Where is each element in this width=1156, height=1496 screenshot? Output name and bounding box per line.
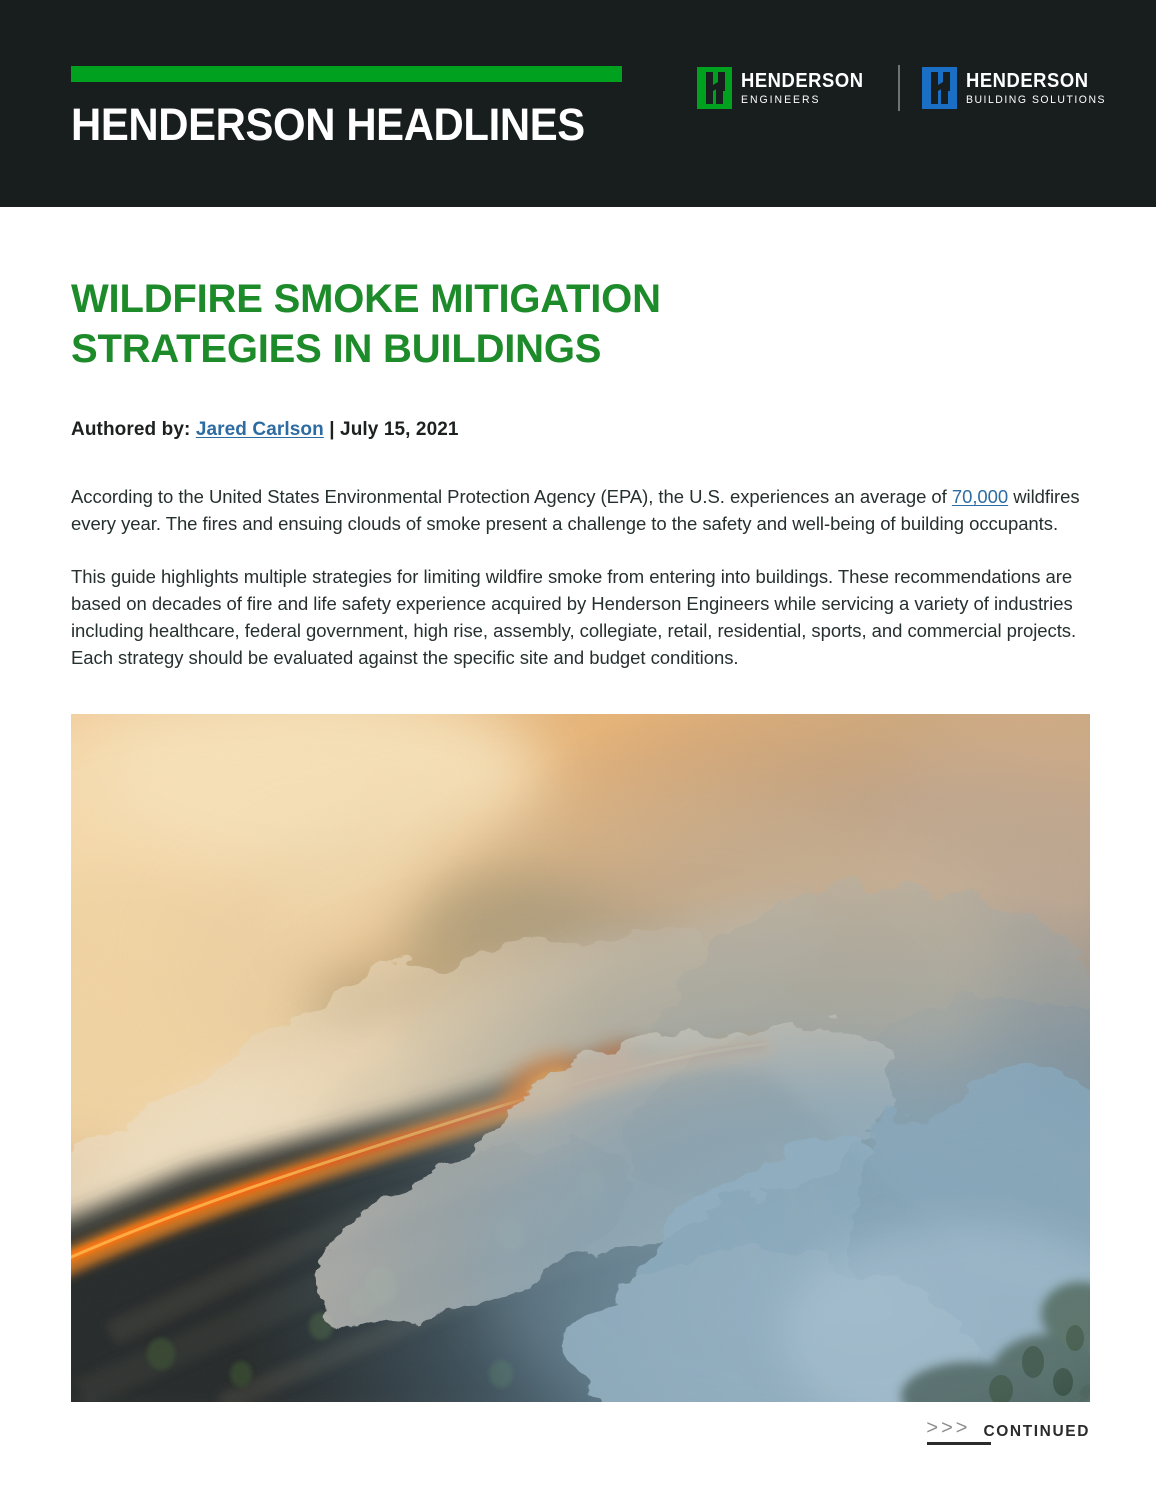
logo-subtitle-building-solutions: BUILDING SOLUTIONS <box>966 95 1106 106</box>
henderson-h-mark-icon <box>697 67 732 109</box>
masthead-banner: HENDERSON HEADLINES HENDERSON ENGINEERS <box>0 0 1156 207</box>
chevron-group: >>> <box>926 1418 970 1445</box>
masthead-brand-block: HENDERSON HEADLINES <box>71 66 623 152</box>
byline-separator: | <box>329 419 334 440</box>
paragraph-1-text-before: According to the United States Environme… <box>71 486 952 507</box>
byline-prefix: Authored by: <box>71 419 190 440</box>
article-content: WILDFIRE SMOKE MITIGATION STRATEGIES IN … <box>71 207 1090 671</box>
wildfire-statistic-link[interactable]: 70,000 <box>952 486 1008 507</box>
chevron-right-icon: >>> <box>926 1418 970 1438</box>
logo-subtitle-engineers: ENGINEERS <box>741 95 868 106</box>
masthead-title: HENDERSON HEADLINES <box>71 98 585 152</box>
page-title: WILDFIRE SMOKE MITIGATION STRATEGIES IN … <box>71 207 871 374</box>
logo-divider <box>898 65 900 111</box>
henderson-engineers-logo[interactable]: HENDERSON ENGINEERS <box>697 67 874 109</box>
logo-name-engineers: HENDERSON <box>741 71 864 91</box>
article-paragraph-1: According to the United States Environme… <box>71 441 1090 537</box>
wildfire-photo <box>71 714 1090 1402</box>
henderson-building-solutions-wordmark: HENDERSON BUILDING SOLUTIONS <box>966 71 1113 106</box>
logo-name-building-solutions: HENDERSON <box>966 71 1102 91</box>
henderson-h-mark-icon <box>922 67 957 109</box>
continued-label: CONTINUED <box>983 1423 1090 1441</box>
author-link[interactable]: Jared Carlson <box>196 419 324 440</box>
byline-date: July 15, 2021 <box>340 419 459 440</box>
byline: Authored by: Jared Carlson | July 15, 20… <box>71 374 1090 441</box>
logo-lockup: HENDERSON ENGINEERS HENDERSON BUILDING S… <box>697 62 1114 114</box>
article-paragraph-2: This guide highlights multiple strategie… <box>71 537 1090 671</box>
henderson-building-solutions-logo[interactable]: HENDERSON BUILDING SOLUTIONS <box>922 67 1113 109</box>
chevron-underline <box>927 1442 991 1445</box>
green-accent-bar <box>71 66 622 82</box>
continued-indicator[interactable]: >>> CONTINUED <box>926 1418 1090 1445</box>
henderson-engineers-wordmark: HENDERSON ENGINEERS <box>741 71 874 106</box>
page-footer: >>> CONTINUED <box>0 1418 1156 1458</box>
